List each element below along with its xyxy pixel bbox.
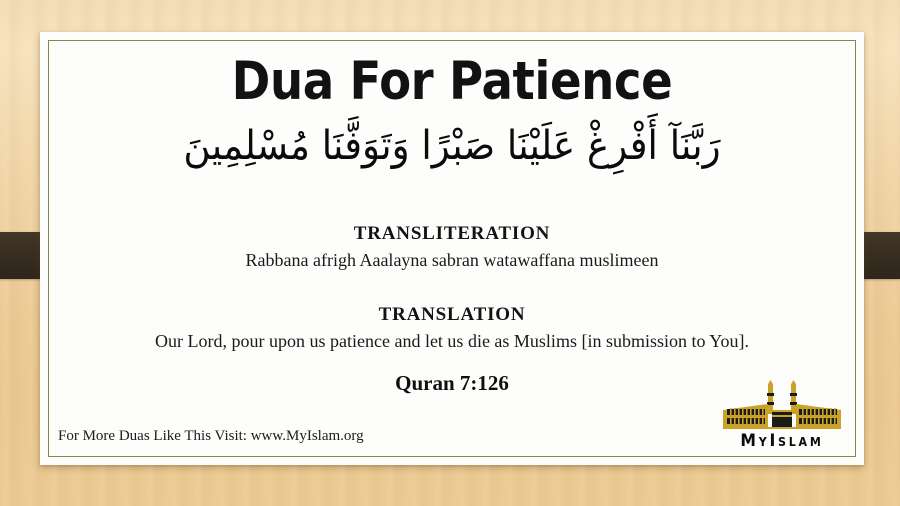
arabic-dua-text: رَبَّنَآ أَفْرِغْ عَلَيْنَا صَبْرًا وَتَ… xyxy=(83,119,821,173)
transliteration-text: Rabbana afrigh Aaalayna sabran watawaffa… xyxy=(49,250,855,271)
footer-visit-text: For More Duas Like This Visit: www.MyIsl… xyxy=(58,428,364,445)
card-content: Dua For Patience رَبَّنَآ أَفْرِغْ عَلَي… xyxy=(49,41,855,456)
slide-background: Dua For Patience رَبَّنَآ أَفْرِغْ عَلَي… xyxy=(0,0,900,506)
translation-text: Our Lord, pour upon us patience and let … xyxy=(49,331,855,352)
logo-wordmark: MyIslam xyxy=(726,431,838,451)
transliteration-section: TRANSLITERATION Rabbana afrigh Aaalayna … xyxy=(49,223,855,271)
translation-heading: TRANSLATION xyxy=(49,304,855,326)
kaaba-mosque-icon xyxy=(721,380,843,438)
dua-card: Dua For Patience رَبَّنَآ أَفْرِغْ عَلَي… xyxy=(40,32,864,465)
translation-section: TRANSLATION Our Lord, pour upon us patie… xyxy=(49,304,855,352)
page-title: Dua For Patience xyxy=(97,55,806,108)
myislam-logo[interactable]: MyIslam xyxy=(721,380,843,452)
transliteration-heading: TRANSLITERATION xyxy=(49,223,855,245)
